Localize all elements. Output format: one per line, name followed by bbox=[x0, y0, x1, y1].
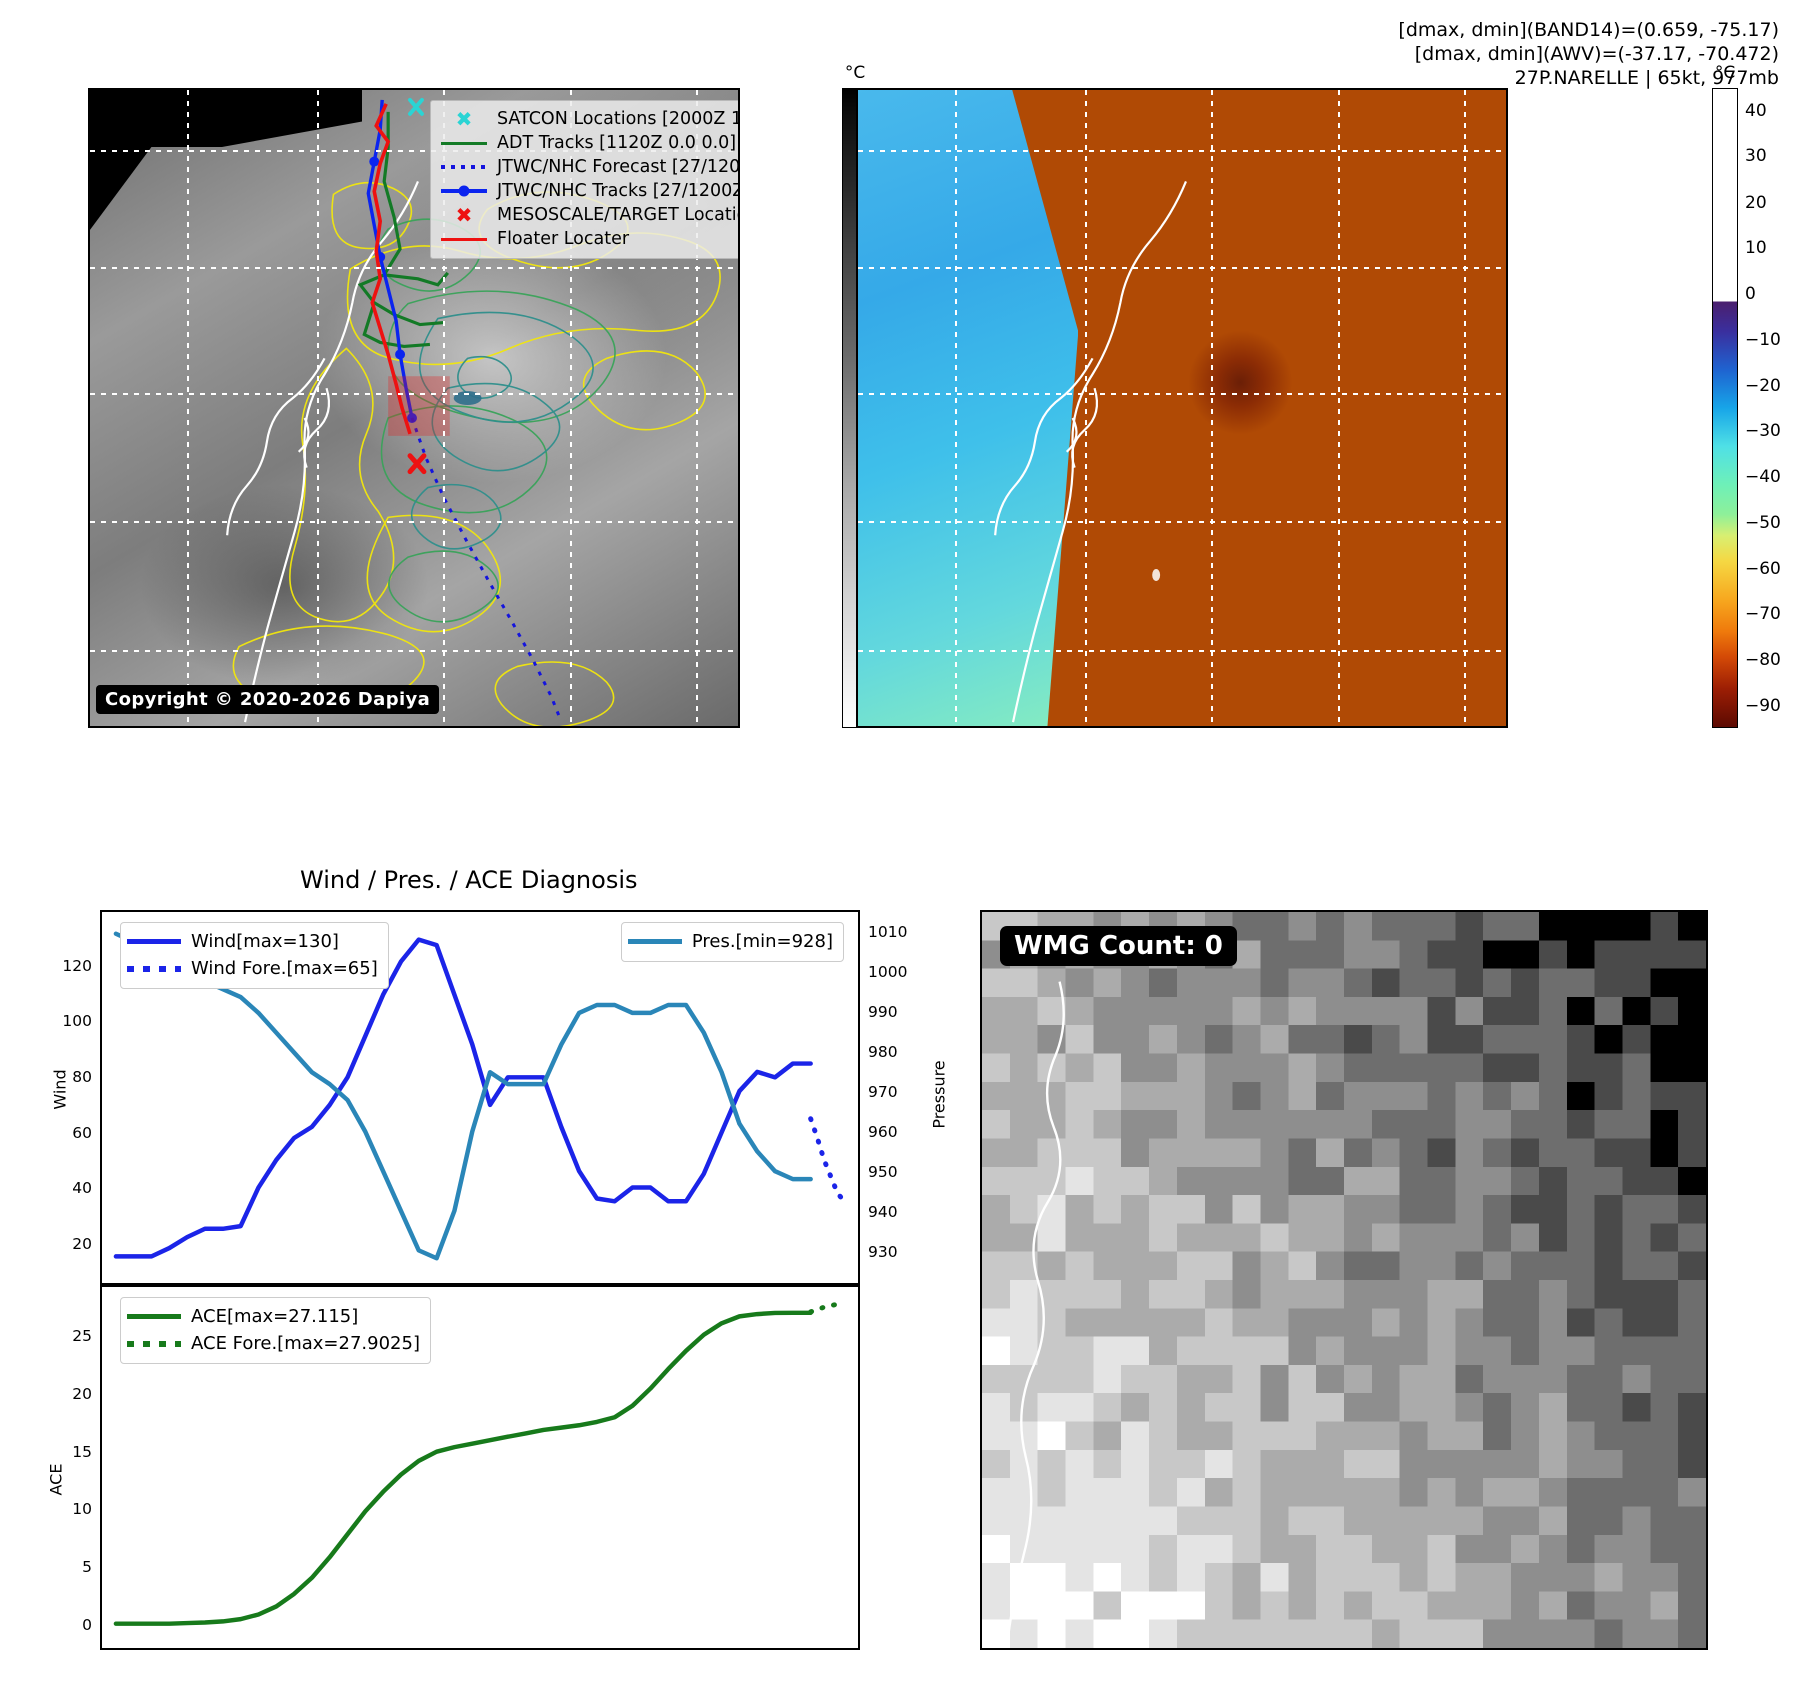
axis-tick-label: 1010 bbox=[868, 923, 907, 941]
awv-cbar-tick: −20 bbox=[1745, 376, 1781, 396]
axis-tick-label: 20 bbox=[72, 1235, 92, 1253]
legend-item-jtwc-forecast[interactable]: JTWC/NHC Forecast [27/1200Z] bbox=[438, 155, 740, 179]
legend-label: JTWC/NHC Forecast [27/1200Z] bbox=[497, 157, 740, 177]
legend-item-jtwc-tracks[interactable]: JTWC/NHC Tracks [27/1200Z] bbox=[438, 179, 740, 203]
awv-cbar-tick: −40 bbox=[1745, 467, 1781, 487]
axis-tick-label: 120 bbox=[62, 957, 92, 975]
legend-item-wind-forecast[interactable]: Wind Fore.[max=65] bbox=[127, 955, 378, 982]
axis-tick-label: 980 bbox=[868, 1043, 898, 1061]
wind-axis-label: Wind bbox=[51, 1069, 70, 1109]
awv-cbar-tick: −30 bbox=[1745, 421, 1781, 441]
legend-label: Wind Fore.[max=65] bbox=[191, 958, 378, 979]
floater-line-icon bbox=[438, 238, 490, 241]
axis-tick-label: 15 bbox=[72, 1443, 92, 1461]
wind-legend[interactable]: Wind[max=130] Wind Fore.[max=65] bbox=[120, 922, 389, 989]
axis-tick-label: 950 bbox=[868, 1163, 898, 1181]
awv-cbar-tick: −80 bbox=[1745, 650, 1781, 670]
ace-forecast-dotted-icon bbox=[127, 1341, 185, 1347]
awv-cbar-tick: 10 bbox=[1745, 238, 1767, 258]
legend-label: SATCON Locations [2000Z 115 936] bbox=[497, 109, 740, 129]
legend-item-ace-forecast[interactable]: ACE Fore.[max=27.9025] bbox=[127, 1330, 420, 1357]
legend-label: ADT Tracks [1120Z 0.0 0.0] bbox=[497, 133, 736, 153]
legend-item-mesoscale-target[interactable]: ✖ MESOSCALE/TARGET Location bbox=[438, 203, 740, 227]
awv-colorbar: °C 40 30 20 10 0 −10 −20 −30 −40 −50 −60… bbox=[1712, 88, 1738, 728]
axis-tick-label: 940 bbox=[868, 1203, 898, 1221]
ir-satellite-panel[interactable]: ✖ SATCON Locations [2000Z 115 936] ADT T… bbox=[88, 88, 740, 728]
ace-line-icon bbox=[127, 1314, 185, 1319]
axis-tick-label: 5 bbox=[82, 1558, 92, 1576]
wind-pressure-chart[interactable]: Wind[max=130] Wind Fore.[max=65] Pres.[m… bbox=[100, 910, 860, 1285]
awv-cbar-tick: 40 bbox=[1745, 101, 1767, 121]
legend-item-wind[interactable]: Wind[max=130] bbox=[127, 928, 378, 955]
copyright-notice: Copyright © 2020-2026 Dapiya bbox=[96, 685, 439, 714]
axis-tick-label: 100 bbox=[62, 1012, 92, 1030]
legend-label: MESOSCALE/TARGET Location bbox=[497, 205, 740, 225]
awv-cbar-tick: 0 bbox=[1745, 284, 1756, 304]
forecast-dotted-line-icon bbox=[438, 165, 490, 169]
wind-line-icon bbox=[127, 939, 185, 944]
legend-label: JTWC/NHC Tracks [27/1200Z] bbox=[497, 181, 740, 201]
pressure-axis-label: Pressure bbox=[930, 1060, 949, 1128]
wmg-grid-imagery bbox=[982, 912, 1706, 1648]
wmg-count-badge: WMG Count: 0 bbox=[1000, 926, 1237, 966]
satcon-x-icon: ✖ bbox=[438, 109, 490, 129]
wmg-count-panel[interactable]: WMG Count: 0 bbox=[980, 910, 1708, 1650]
legend-label: Floater Locater bbox=[497, 229, 629, 249]
legend-label: Wind[max=130] bbox=[191, 931, 339, 952]
legend-label: ACE[max=27.115] bbox=[191, 1306, 358, 1327]
axis-tick-label: 960 bbox=[868, 1123, 898, 1141]
legend-item-floater-locater[interactable]: Floater Locater bbox=[438, 227, 740, 251]
axis-tick-label: 10 bbox=[72, 1500, 92, 1518]
ir-map-legend[interactable]: ✖ SATCON Locations [2000Z 115 936] ADT T… bbox=[430, 100, 740, 259]
axis-tick-label: 80 bbox=[72, 1068, 92, 1086]
legend-label: Pres.[min=928] bbox=[692, 931, 833, 952]
awv-satellite-panel[interactable]: 22°S 24°S 26°S 28°S 30°S 110°E 112°E 114… bbox=[856, 88, 1508, 728]
awv-cbar-tick: −60 bbox=[1745, 559, 1781, 579]
axis-tick-label: 0 bbox=[82, 1616, 92, 1634]
axis-tick-label: 970 bbox=[868, 1083, 898, 1101]
pressure-line-icon bbox=[628, 939, 686, 944]
legend-label: ACE Fore.[max=27.9025] bbox=[191, 1333, 420, 1354]
awv-cbar-tick: −50 bbox=[1745, 513, 1781, 533]
pressure-legend[interactable]: Pres.[min=928] bbox=[621, 922, 844, 962]
mesoscale-x-icon: ✖ bbox=[438, 205, 490, 225]
axis-tick-label: 930 bbox=[868, 1243, 898, 1261]
legend-item-ace[interactable]: ACE[max=27.115] bbox=[127, 1303, 420, 1330]
awv-colorbar-gradient bbox=[1712, 88, 1738, 728]
awv-cbar-tick: 30 bbox=[1745, 146, 1767, 166]
axis-tick-label: 60 bbox=[72, 1124, 92, 1142]
track-line-dot-icon bbox=[438, 189, 490, 193]
ace-chart[interactable]: ACE[max=27.115] ACE Fore.[max=27.9025] bbox=[100, 1285, 860, 1650]
awv-cbar-tick: −10 bbox=[1745, 330, 1781, 350]
band14-dmax-dmin: [dmax, dmin](BAND14)=(0.659, -75.17) bbox=[1398, 18, 1779, 42]
axis-tick-label: 1000 bbox=[868, 963, 907, 981]
legend-item-pressure[interactable]: Pres.[min=928] bbox=[628, 928, 833, 955]
ir-colorbar-title: °C bbox=[845, 63, 865, 83]
axis-tick-label: 25 bbox=[72, 1327, 92, 1345]
ace-axis-label: ACE bbox=[46, 1464, 65, 1496]
legend-item-satcon[interactable]: ✖ SATCON Locations [2000Z 115 936] bbox=[438, 107, 740, 131]
axis-tick-label: 40 bbox=[72, 1179, 92, 1197]
awv-cbar-tick: −70 bbox=[1745, 604, 1781, 624]
axis-tick-label: 20 bbox=[72, 1385, 92, 1403]
diagnosis-title: Wind / Pres. / ACE Diagnosis bbox=[300, 866, 638, 894]
wind-forecast-dotted-icon bbox=[127, 966, 185, 972]
awv-cbar-tick: −90 bbox=[1745, 696, 1781, 716]
axis-tick-label: 990 bbox=[868, 1003, 898, 1021]
adt-line-icon bbox=[438, 142, 490, 145]
legend-item-adt-tracks[interactable]: ADT Tracks [1120Z 0.0 0.0] bbox=[438, 131, 740, 155]
awv-cbar-tick: 20 bbox=[1745, 193, 1767, 213]
awv-colorbar-title: °C bbox=[1715, 63, 1735, 83]
ace-legend[interactable]: ACE[max=27.115] ACE Fore.[max=27.9025] bbox=[120, 1297, 431, 1364]
